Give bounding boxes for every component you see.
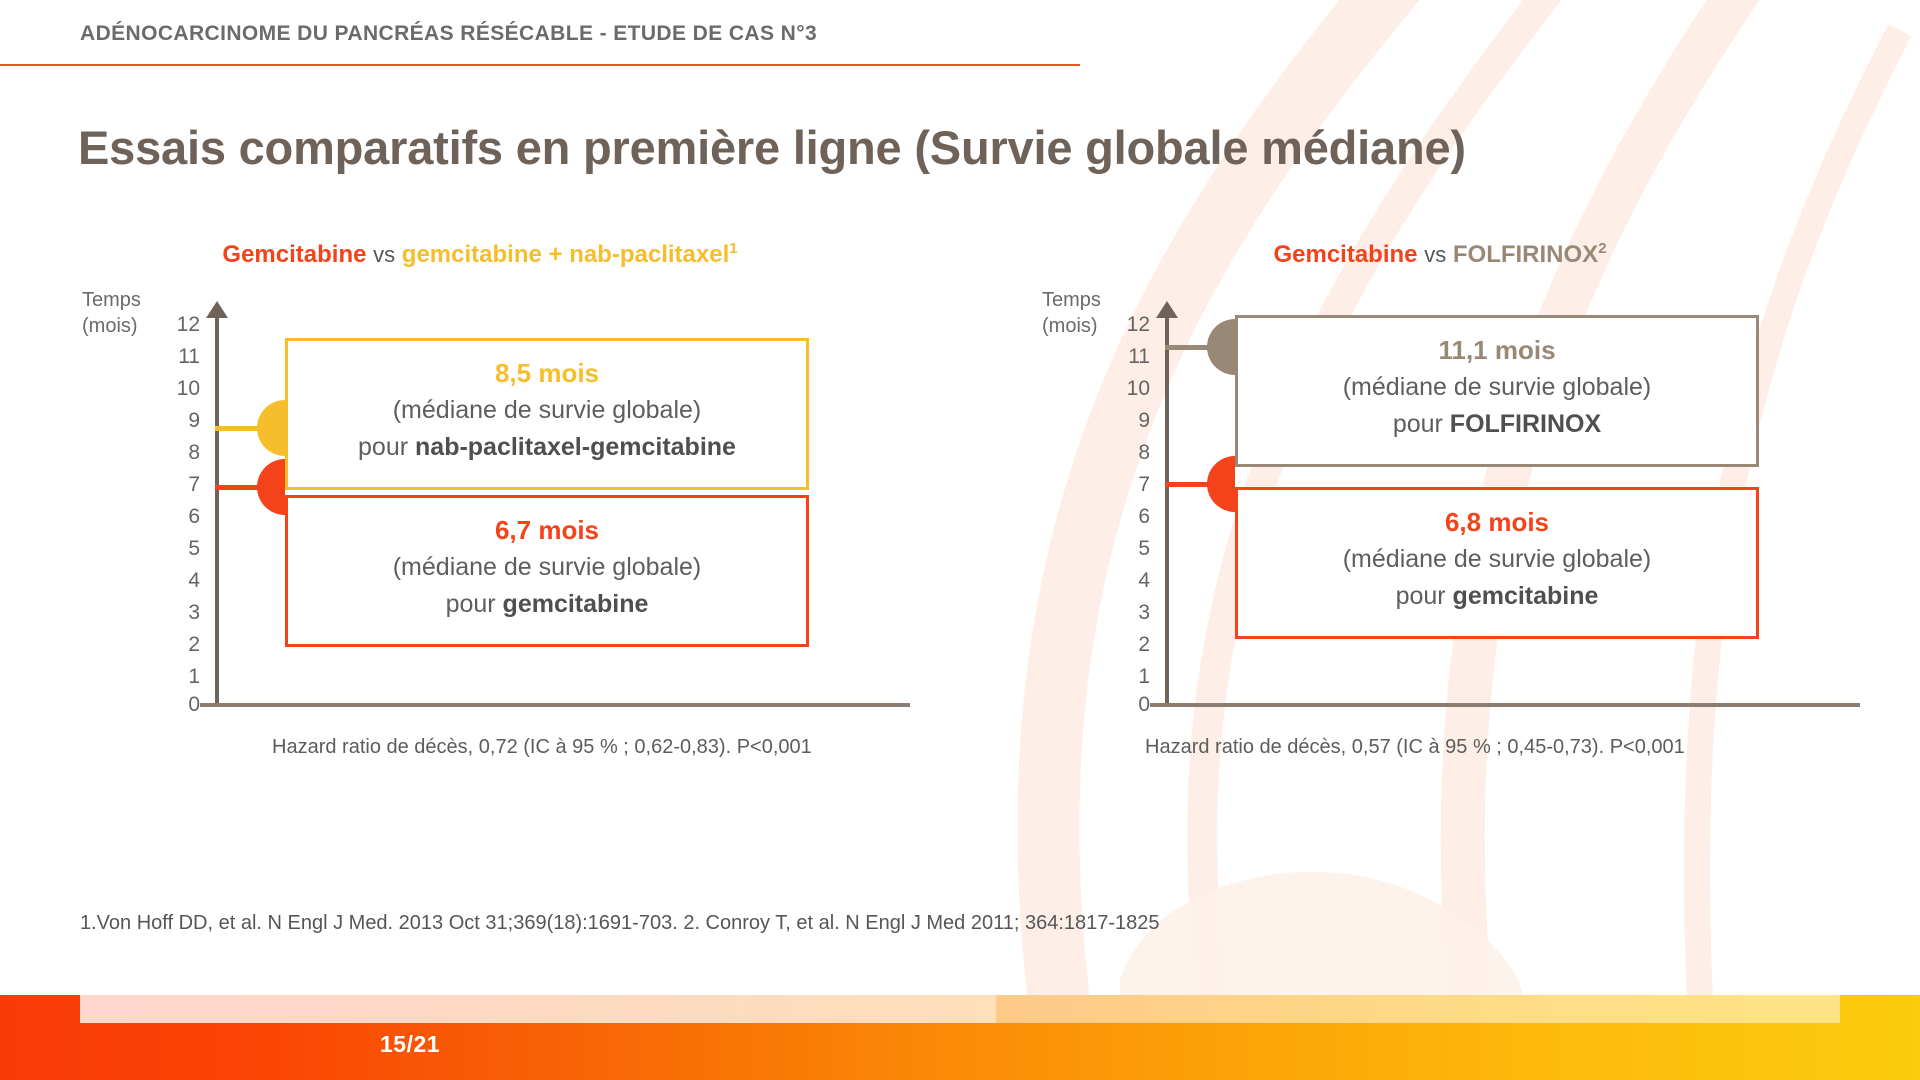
page-number: 15/21 bbox=[380, 1031, 440, 1058]
slide-footer: 15/21 bbox=[0, 995, 1920, 1080]
y-tick-12: 12 bbox=[1110, 314, 1150, 335]
panel-arm-a-label: Gemcitabine bbox=[222, 241, 366, 268]
y-tick-9: 9 bbox=[1110, 410, 1150, 431]
x-axis-line bbox=[1150, 703, 1860, 707]
y-tick-9: 9 bbox=[160, 410, 200, 431]
y-tick-4: 4 bbox=[160, 570, 200, 591]
y-tick-1: 1 bbox=[1110, 666, 1150, 687]
y-tick-5: 5 bbox=[1110, 538, 1150, 559]
callout-arm: pour nab-paclitaxel-gemcitabine bbox=[288, 429, 806, 466]
y-axis-caption-line1: Temps bbox=[82, 287, 172, 313]
callout-value: 6,8 mois bbox=[1238, 504, 1756, 541]
value-marker-folfirinox bbox=[1207, 319, 1235, 375]
callout-arm-name: FOLFIRINOX bbox=[1450, 410, 1601, 438]
hazard-ratio-note: Hazard ratio de décès, 0,72 (IC à 95 % ;… bbox=[272, 736, 812, 759]
y-tick-2: 2 bbox=[160, 634, 200, 655]
callout-folfirinox: 11,1 mois (médiane de survie globale) po… bbox=[1235, 315, 1759, 467]
x-axis-line bbox=[200, 703, 910, 707]
y-tick-11: 11 bbox=[1110, 346, 1150, 367]
y-tick-8: 8 bbox=[1110, 442, 1150, 463]
panel-heading: Gemcitabine vs FOLFIRINOX2 bbox=[960, 240, 1920, 269]
y-tick-6: 6 bbox=[1110, 506, 1150, 527]
callout-arm: pour gemcitabine bbox=[1238, 578, 1756, 615]
y-tick-0: 0 bbox=[160, 694, 200, 715]
y-axis-line bbox=[215, 317, 219, 705]
y-axis-caption-line1: Temps bbox=[1042, 287, 1132, 313]
y-tick-10: 10 bbox=[160, 378, 200, 399]
panel-arm-b-label: FOLFIRINOX bbox=[1453, 241, 1598, 268]
y-tick-10: 10 bbox=[1110, 378, 1150, 399]
slide: ADÉNOCARCINOME DU PANCRÉAS RÉSÉCABLE - E… bbox=[0, 0, 1920, 1080]
callout-subtitle: (médiane de survie globale) bbox=[288, 392, 806, 429]
y-tick-7: 7 bbox=[1110, 474, 1150, 495]
callout-nab-paclitaxel: 8,5 mois (médiane de survie globale) pou… bbox=[285, 338, 809, 490]
chart-panel-gem-vs-nabpaclitaxel: Gemcitabine vs gemcitabine + nab-paclita… bbox=[0, 240, 960, 793]
callout-value: 11,1 mois bbox=[1238, 332, 1756, 369]
y-axis-arrow-icon bbox=[206, 301, 228, 318]
y-tick-1: 1 bbox=[160, 666, 200, 687]
plot-area: Temps (mois) 12 11 10 9 8 7 6 5 4 3 2 1 … bbox=[0, 293, 940, 793]
callout-gemcitabine: 6,7 mois (médiane de survie globale) pou… bbox=[285, 495, 809, 647]
y-tick-0: 0 bbox=[1110, 694, 1150, 715]
y-axis-caption: Temps (mois) bbox=[82, 287, 172, 339]
y-tick-7: 7 bbox=[160, 474, 200, 495]
panel-vs-label: vs bbox=[1424, 242, 1446, 267]
panel-arm-b-label: gemcitabine + nab-paclitaxel bbox=[402, 241, 729, 268]
panel-heading: Gemcitabine vs gemcitabine + nab-paclita… bbox=[0, 240, 960, 269]
callout-arm: pour FOLFIRINOX bbox=[1238, 406, 1756, 443]
slide-kicker: ADÉNOCARCINOME DU PANCRÉAS RÉSÉCABLE - E… bbox=[0, 22, 1080, 46]
plot-area: Temps (mois) 12 11 10 9 8 7 6 5 4 3 2 1 … bbox=[960, 293, 1900, 793]
y-tick-6: 6 bbox=[160, 506, 200, 527]
callout-subtitle: (médiane de survie globale) bbox=[288, 549, 806, 586]
header-rule bbox=[0, 64, 1080, 66]
panel-vs-label: vs bbox=[373, 242, 395, 267]
y-tick-5: 5 bbox=[160, 538, 200, 559]
y-tick-12: 12 bbox=[160, 314, 200, 335]
value-marker-gemcitabine bbox=[257, 459, 285, 515]
y-tick-4: 4 bbox=[1110, 570, 1150, 591]
callout-arm-name: nab-paclitaxel-gemcitabine bbox=[415, 433, 736, 461]
y-tick-11: 11 bbox=[160, 346, 200, 367]
value-marker-nab-paclitaxel bbox=[257, 400, 285, 456]
references-footnote: 1.Von Hoff DD, et al. N Engl J Med. 2013… bbox=[80, 912, 1160, 935]
callout-arm: pour gemcitabine bbox=[288, 586, 806, 623]
callout-value: 6,7 mois bbox=[288, 512, 806, 549]
callout-value: 8,5 mois bbox=[288, 355, 806, 392]
y-tick-3: 3 bbox=[160, 602, 200, 623]
y-tick-3: 3 bbox=[1110, 602, 1150, 623]
callout-arm-prefix: pour bbox=[358, 433, 415, 461]
callout-arm-prefix: pour bbox=[1396, 582, 1453, 610]
page-title: Essais comparatifs en première ligne (Su… bbox=[78, 120, 1466, 175]
callout-arm-name: gemcitabine bbox=[503, 590, 649, 618]
y-tick-2: 2 bbox=[1110, 634, 1150, 655]
value-marker-gemcitabine bbox=[1207, 456, 1235, 512]
callout-arm-prefix: pour bbox=[446, 590, 503, 618]
panel-arm-a-label: Gemcitabine bbox=[1273, 241, 1417, 268]
callout-arm-name: gemcitabine bbox=[1453, 582, 1599, 610]
footer-progress-strip bbox=[80, 995, 1840, 1023]
hazard-ratio-note: Hazard ratio de décès, 0,57 (IC à 95 % ;… bbox=[1145, 736, 1685, 759]
callout-gemcitabine: 6,8 mois (médiane de survie globale) pou… bbox=[1235, 487, 1759, 639]
slide-kicker-wrap: ADÉNOCARCINOME DU PANCRÉAS RÉSÉCABLE - E… bbox=[0, 22, 1080, 66]
chart-panel-gem-vs-folfirinox: Gemcitabine vs FOLFIRINOX2 Temps (mois) … bbox=[960, 240, 1920, 793]
panel-reference-superscript: 2 bbox=[1598, 240, 1606, 257]
callout-subtitle: (médiane de survie globale) bbox=[1238, 541, 1756, 578]
y-tick-8: 8 bbox=[160, 442, 200, 463]
callout-arm-prefix: pour bbox=[1393, 410, 1450, 438]
y-axis-caption-line2: (mois) bbox=[82, 313, 172, 339]
y-axis-arrow-icon bbox=[1156, 301, 1178, 318]
y-axis-line bbox=[1165, 317, 1169, 705]
panel-reference-superscript: 1 bbox=[729, 240, 737, 257]
callout-subtitle: (médiane de survie globale) bbox=[1238, 369, 1756, 406]
